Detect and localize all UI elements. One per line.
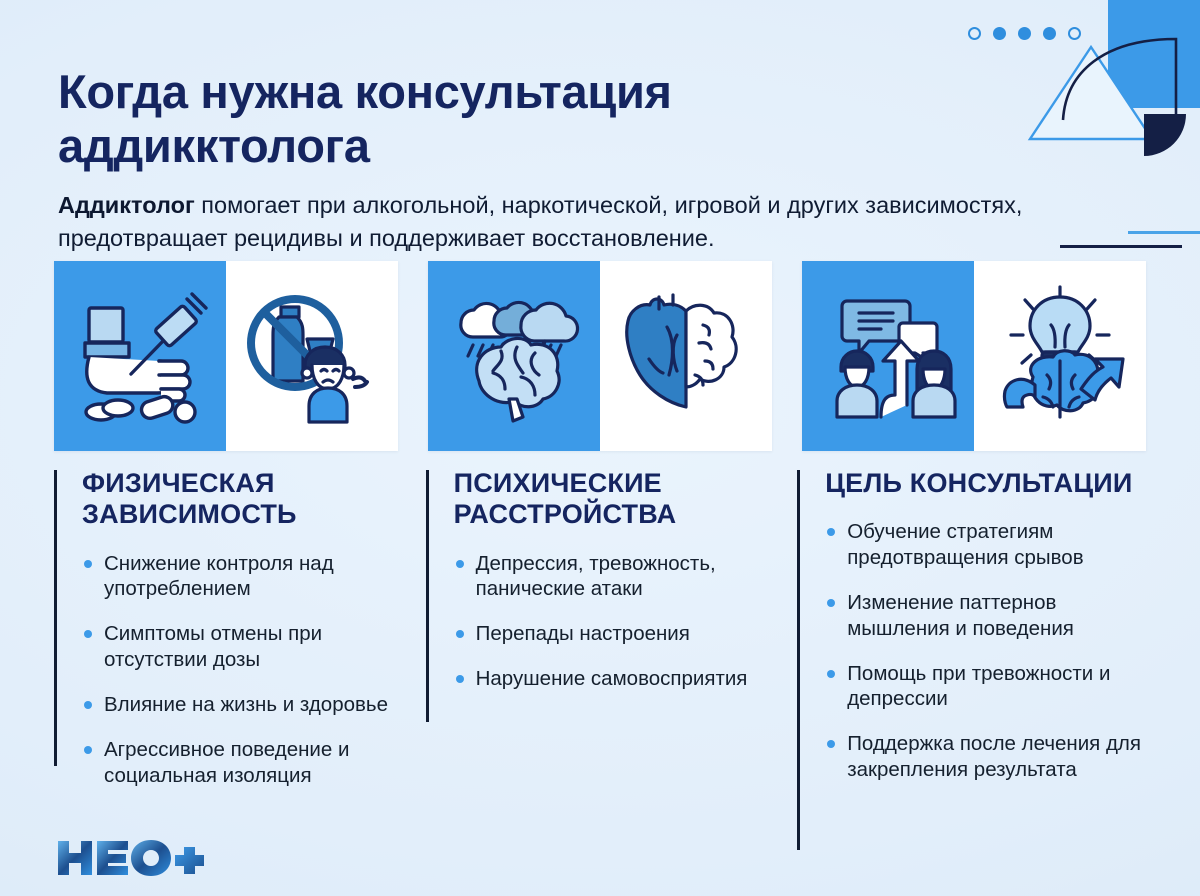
dot-outline-icon — [968, 27, 981, 40]
icon-card — [802, 261, 1146, 451]
icon-card — [54, 261, 398, 451]
column-heading: ЦЕЛЬ КОНСУЛЬТАЦИИ — [825, 468, 1154, 499]
brain-lightbulb-arrows-icon — [974, 261, 1146, 451]
list-item: Поддержка после лечения для закрепления … — [825, 731, 1154, 783]
column-divider — [797, 470, 800, 850]
list-item: Помощь при тревожности и депрессии — [825, 661, 1154, 713]
heart-brain-split-icon — [600, 261, 772, 451]
column-divider — [54, 470, 57, 766]
dot-filled-icon — [1018, 27, 1031, 40]
column-heading: ПСИХИЧЕСКИЕ РАССТРОЙСТВА — [454, 468, 798, 531]
infographic-poster: Когда нужна консультация аддикктолога Ад… — [0, 0, 1200, 896]
column-physical-dependence: ФИЗИЧЕСКАЯ ЗАВИСИМОСТЬ Снижение контроля… — [54, 468, 426, 868]
column-consultation-goal: ЦЕЛЬ КОНСУЛЬТАЦИИ Обучение стратегиям пр… — [797, 468, 1154, 868]
page-title: Когда нужна консультация аддикктолога — [58, 65, 878, 172]
list-item: Снижение контроля над употреблением — [82, 551, 426, 603]
list-item: Нарушение самовосприятия — [454, 666, 798, 692]
list-item: Агрессивное поведение и социальная изоля… — [82, 737, 426, 789]
list-item: Депрессия, тревожность, панические атаки — [454, 551, 798, 603]
list-item: Симптомы отмены при отсутствии дозы — [82, 621, 426, 673]
column-heading: ФИЗИЧЕСКАЯ ЗАВИСИМОСТЬ — [82, 468, 426, 531]
list-item: Перепады настроения — [454, 621, 798, 647]
content-columns: ФИЗИЧЕСКАЯ ЗАВИСИМОСТЬ Снижение контроля… — [54, 468, 1154, 868]
storm-cloud-brain-icon — [428, 261, 600, 451]
light-blue-rule-decoration — [1128, 231, 1200, 234]
column-bullet-list: Снижение контроля над употреблением Симп… — [82, 551, 426, 789]
list-item: Изменение паттернов мышления и поведения — [825, 590, 1154, 642]
list-item: Обучение стратегиям предотвращения срыво… — [825, 519, 1154, 571]
icon-card — [428, 261, 772, 451]
dot-filled-icon — [993, 27, 1006, 40]
column-mental-disorders: ПСИХИЧЕСКИЕ РАССТРОЙСТВА Депрессия, трев… — [426, 468, 798, 868]
subtitle-body: помогает при алкогольной, наркотической,… — [58, 192, 1022, 251]
neo-plus-logo — [56, 836, 206, 880]
column-bullet-list: Депрессия, тревожность, панические атаки… — [454, 551, 798, 692]
icon-card-strip — [54, 261, 1146, 451]
people-speech-bubbles-arrow-icon — [802, 261, 974, 451]
neo-plus-logo-mark — [56, 835, 206, 881]
list-item: Влияние на жизнь и здоровье — [82, 692, 426, 718]
no-alcohol-sad-person-icon — [226, 261, 398, 451]
column-divider — [426, 470, 429, 722]
arm-syringe-pills-icon — [54, 261, 226, 451]
page-subtitle: Аддиктолог помогает при алкогольной, нар… — [58, 189, 1128, 256]
navy-half-circle-decoration — [1144, 114, 1186, 156]
subtitle-lead-term: Аддиктолог — [58, 192, 195, 218]
column-bullet-list: Обучение стратегиям предотвращения срыво… — [825, 519, 1154, 783]
dot-filled-icon — [1043, 27, 1056, 40]
